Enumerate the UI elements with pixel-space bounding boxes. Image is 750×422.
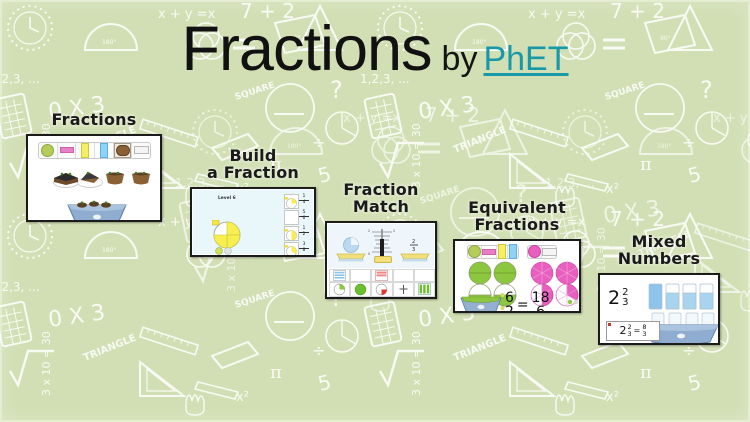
answer-expression: 2 2 3 = 8 3 (620, 324, 647, 337)
tool-green-circle[interactable] (468, 246, 482, 258)
card-mixed-numbers[interactable]: Mixed Numbers 2 2 3 (598, 234, 720, 345)
left-scale-plate[interactable] (335, 237, 367, 263)
shape-toolbar[interactable] (38, 142, 151, 159)
blue-bar-shape-icon (100, 143, 108, 158)
card-equivalent-fractions[interactable]: Equivalent Fractions (453, 200, 581, 313)
tool-yellow-bar-shape[interactable] (76, 143, 95, 158)
phet-link[interactable]: PhET (483, 40, 568, 78)
grid-card-blue-bars[interactable] (329, 269, 350, 282)
yellow-pie-workspace[interactable] (212, 220, 242, 250)
tool-white-bar-shape[interactable] (132, 143, 150, 158)
right-fraction: 18 6 (532, 291, 550, 313)
status-chip (608, 323, 611, 326)
tool-pink-line[interactable] (482, 246, 497, 258)
left-spinner[interactable] (500, 292, 505, 312)
tool-yellow-bar[interactable] (497, 246, 508, 258)
center-plate[interactable] (374, 256, 392, 263)
grid-card-blank[interactable] (393, 269, 414, 282)
right-shape-toolbar[interactable] (527, 245, 557, 259)
pie-controls[interactable] (214, 247, 234, 255)
pink-circle-icon (528, 245, 541, 258)
equals-sign: = (517, 297, 529, 313)
circle-shape-icon (41, 144, 54, 157)
svg-text:2: 2 (368, 229, 370, 233)
grid-card-plus-sign[interactable] (393, 282, 414, 297)
grid-card-red-white-pie[interactable] (371, 282, 392, 297)
tool-pink-circle[interactable] (528, 246, 542, 258)
left-shape-toolbar[interactable] (467, 245, 519, 259)
display-fraction: 2 3 (622, 288, 628, 308)
svg-text:2: 2 (412, 239, 415, 245)
thumbnail-build-a-fraction[interactable]: Level 6 14 56 (190, 187, 316, 257)
target-fraction: 12 (299, 227, 309, 237)
tool-circle-shape[interactable] (39, 143, 58, 158)
improper-fraction: 8 3 (642, 324, 646, 337)
beaker-row[interactable] (648, 283, 718, 311)
tool-blue-bar-shape[interactable] (95, 143, 114, 158)
target-fraction: 56 (299, 211, 309, 221)
thumbnail-equivalent-fractions[interactable]: 6 2 = 18 6 (453, 239, 581, 313)
tool-blue-bar[interactable] (508, 246, 518, 258)
card-fraction-match[interactable]: Fraction Match 2 2 0 (325, 182, 437, 299)
grid-card-blank[interactable] (350, 269, 371, 282)
target-card[interactable] (284, 194, 299, 209)
answer-fraction: 2 3 (628, 324, 632, 337)
equivalence-equation: 6 2 = 18 6 (505, 291, 549, 313)
right-spinner[interactable] (567, 298, 579, 306)
slide-canvas: 180° x + y =x 90° 1,2,3, ... (0, 0, 750, 422)
thumbnail-fractions-intro[interactable] (26, 134, 162, 222)
tool-grey-bar[interactable] (542, 246, 557, 258)
mixed-number-display: 2 2 3 (608, 287, 628, 309)
card-label-fraction-match: Fraction Match (325, 182, 437, 216)
whole-number: 2 (608, 287, 620, 309)
white-bar-shape-icon (134, 146, 149, 154)
answer-box[interactable]: 2 2 3 = 8 3 (606, 321, 660, 341)
card-label-fractions: Fractions (26, 112, 162, 129)
pink-bar-shape-icon (60, 147, 74, 153)
card-build-a-fraction[interactable]: Build a Fraction Level 6 14 (190, 148, 316, 257)
page-title: FractionsbyPhET (0, 18, 750, 81)
green-circle-icon (468, 245, 481, 258)
grid-card-green-vertical-bars[interactable] (414, 282, 435, 297)
cake-pieces[interactable] (52, 168, 156, 186)
target-card[interactable] (284, 226, 299, 241)
answer-whole: 2 (620, 324, 627, 337)
card-label-build-a-fraction: Build a Fraction (190, 148, 316, 182)
grid-card-blank[interactable] (414, 269, 435, 282)
svg-text:0: 0 (368, 252, 370, 256)
blue-bar-icon (509, 244, 517, 259)
grid-card-red-bars[interactable] (371, 269, 392, 282)
level-label: Level 6 (218, 196, 236, 201)
right-scale-plate[interactable]: 2 3 (399, 237, 431, 263)
target-fraction: 38 (299, 243, 309, 253)
fraction-card-grid[interactable] (329, 269, 435, 297)
pink-line-icon (482, 249, 496, 255)
thumbnail-mixed-numbers[interactable]: 2 2 3 (598, 273, 720, 345)
grid-card-green-pie-quarter[interactable] (329, 282, 350, 297)
blue-bowl-container[interactable] (66, 200, 128, 222)
grid-card-green-circle[interactable] (350, 282, 371, 297)
thumbnail-fraction-match[interactable]: 2 2 0 2 3 (325, 221, 437, 299)
tool-pink-bar-shape[interactable] (58, 143, 77, 158)
card-label-equivalent-fractions: Equivalent Fractions (453, 200, 581, 234)
target-fraction: 14 (299, 195, 309, 205)
yellow-bar-icon (498, 244, 506, 259)
tool-cake-shape[interactable] (114, 143, 133, 158)
title-by-text: by (442, 40, 478, 78)
yellow-bar-shape-icon (81, 143, 89, 158)
answer-equals: = (634, 326, 641, 335)
svg-text:2: 2 (393, 229, 395, 233)
left-fraction: 6 2 (505, 291, 514, 313)
target-card[interactable] (284, 210, 299, 225)
cake-shape-icon (116, 145, 130, 156)
green-bowl-container[interactable] (459, 293, 503, 313)
card-fractions-intro[interactable]: Fractions (26, 112, 162, 222)
card-label-mixed-numbers: Mixed Numbers (598, 234, 720, 268)
title-text: Fractions (181, 14, 431, 84)
target-card[interactable] (284, 242, 299, 257)
svg-text:3: 3 (412, 247, 415, 253)
grey-bar-icon (542, 248, 557, 256)
